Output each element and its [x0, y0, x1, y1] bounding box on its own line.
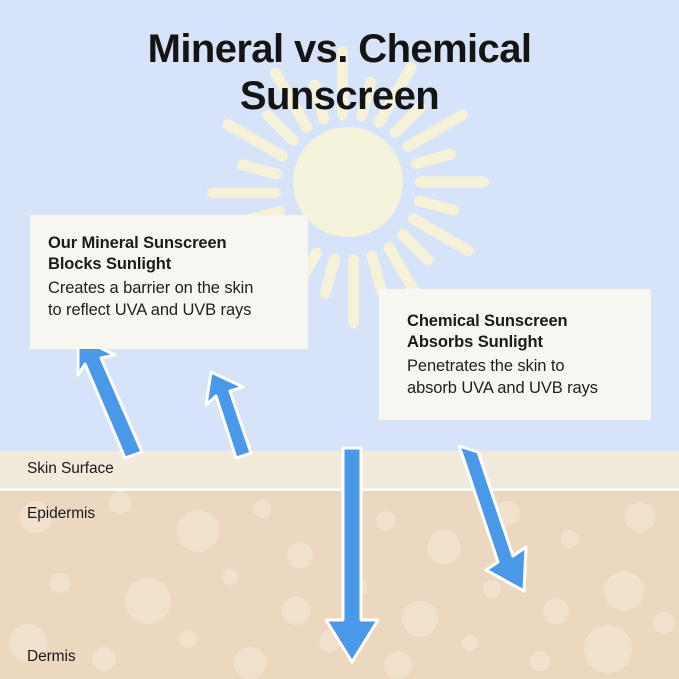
page-title-line-2: Sunscreen [0, 73, 679, 120]
callout-chemical-title-line-2: Absorbs Sunlight [407, 332, 631, 353]
callout-mineral-body: Creates a barrier on the skin to reflect… [48, 278, 290, 322]
sun-ray-icon [319, 252, 342, 299]
layer-label-dermis: Dermis [27, 648, 75, 666]
callout-mineral-title-line-1: Our Mineral Sunscreen [48, 233, 290, 254]
layer-label-skin-surface: Skin Surface [27, 460, 114, 478]
callout-chemical: Chemical Sunscreen Absorbs Sunlight Pene… [379, 289, 651, 420]
callout-chemical-title-line-1: Chemical Sunscreen [407, 311, 631, 332]
sun-ray-icon [207, 188, 281, 199]
callout-mineral-title: Our Mineral Sunscreen Blocks Sunlight [48, 233, 290, 275]
page-title-line-1: Mineral vs. Chemical [0, 26, 679, 73]
sun-ray-icon [236, 158, 283, 181]
callout-mineral: Our Mineral Sunscreen Blocks Sunlight Cr… [30, 215, 308, 349]
layer-label-epidermis: Epidermis [27, 505, 95, 523]
sunscreen-infographic: Mineral vs. Chemical Sunscreen [0, 0, 679, 679]
sun-disc [293, 127, 403, 237]
page-title: Mineral vs. Chemical Sunscreen [0, 26, 679, 120]
dermis-band [0, 600, 679, 679]
callout-mineral-body-line-1: Creates a barrier on the skin [48, 278, 290, 300]
callout-mineral-body-line-2: to reflect UVA and UVB rays [48, 300, 290, 322]
callout-chemical-body-line-1: Penetrates the skin to [407, 356, 631, 378]
sun-ray-icon [413, 194, 460, 217]
sun-ray-icon [348, 255, 359, 329]
sun-ray-icon [415, 177, 489, 188]
callout-chemical-body-line-2: absorb UVA and UVB rays [407, 378, 631, 400]
callout-chemical-title: Chemical Sunscreen Absorbs Sunlight [407, 311, 631, 353]
sun-ray-icon [410, 148, 457, 171]
callout-mineral-title-line-2: Blocks Sunlight [48, 254, 290, 275]
callout-chemical-body: Penetrates the skin to absorb UVA and UV… [407, 356, 631, 400]
